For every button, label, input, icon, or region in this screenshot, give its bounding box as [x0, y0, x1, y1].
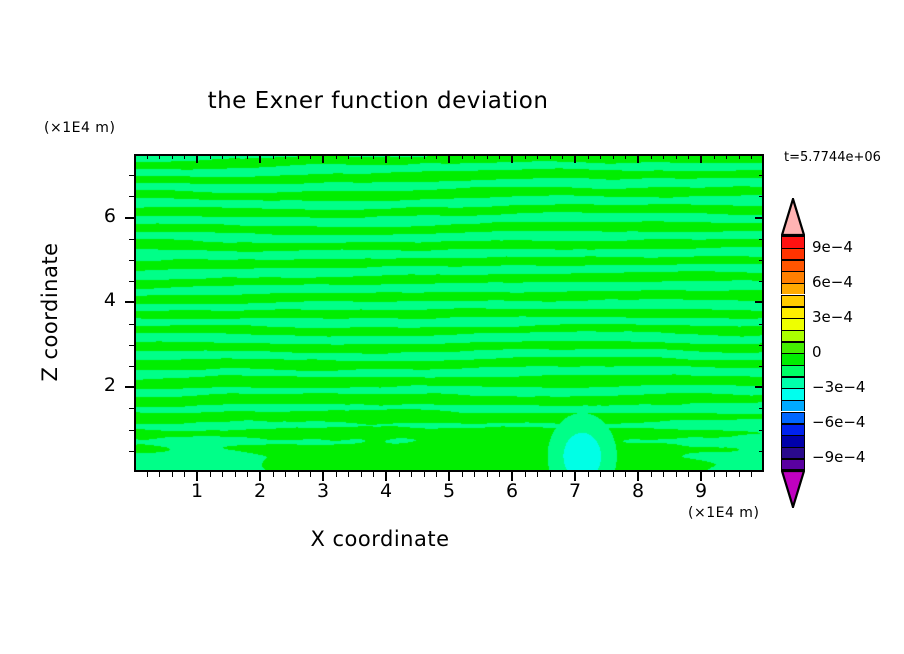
colorbar-band-divider	[781, 388, 805, 389]
colorbar-band	[781, 400, 805, 412]
colorbar-tick-label: −9e−4	[812, 448, 865, 466]
colorbar-tick-label: 0	[812, 343, 822, 361]
x-tick-minor-inner	[688, 154, 689, 159]
y-tick-minor-inner	[759, 324, 764, 325]
colorbar-band-divider	[781, 376, 805, 377]
x-axis-title: X coordinate	[0, 527, 760, 551]
colorbar-band-divider	[781, 447, 805, 448]
colorbar-band	[781, 341, 805, 353]
x-tick-minor	[537, 472, 538, 477]
x-tick-label: 2	[240, 480, 280, 502]
x-tick-minor-inner	[525, 154, 526, 159]
x-tick-minor	[285, 472, 286, 477]
x-tick-minor-inner	[726, 154, 727, 159]
x-tick-minor	[147, 472, 148, 477]
x-tick-minor-inner	[739, 154, 740, 159]
x-tick-minor	[550, 472, 551, 477]
x-tick-minor-inner	[499, 154, 500, 159]
x-tick-major-inner	[574, 154, 576, 163]
x-tick-minor-inner	[310, 154, 311, 159]
y-tick-minor	[129, 175, 134, 176]
x-tick-label: 9	[681, 480, 721, 502]
colorbar-band-divider	[781, 330, 805, 331]
x-tick-minor-inner	[172, 154, 173, 159]
x-tick-minor	[336, 472, 337, 477]
colorbar-band	[781, 295, 805, 307]
x-tick-minor-inner	[588, 154, 589, 159]
x-tick-major-inner	[511, 154, 513, 163]
x-tick-major-inner	[637, 154, 639, 163]
x-tick-minor-inner	[235, 154, 236, 159]
y-tick-minor-inner	[759, 281, 764, 282]
colorbar-band	[781, 353, 805, 365]
x-tick-minor-inner	[613, 154, 614, 159]
colorbar-band	[781, 306, 805, 318]
colorbar-band-divider	[781, 365, 805, 366]
colorbar	[781, 236, 805, 470]
x-tick-minor-inner	[336, 154, 337, 159]
x-tick-major-inner	[322, 154, 324, 163]
x-tick-minor	[235, 472, 236, 477]
y-tick-minor-inner	[759, 175, 764, 176]
x-tick-minor	[625, 472, 626, 477]
colorbar-band-divider	[781, 423, 805, 424]
y-tick-minor-inner	[759, 260, 764, 261]
x-tick-label: 7	[555, 480, 595, 502]
colorbar-band	[781, 376, 805, 388]
x-tick-minor-inner	[462, 154, 463, 159]
colorbar-band	[781, 259, 805, 271]
x-tick-minor	[562, 472, 563, 477]
y-tick-minor-inner	[759, 239, 764, 240]
y-tick-minor	[129, 260, 134, 261]
colorbar-band-divider	[781, 248, 805, 249]
x-tick-minor-inner	[537, 154, 538, 159]
y-tick-minor-inner	[759, 408, 764, 409]
colorbar-band-divider	[781, 412, 805, 413]
plot-stage: the Exner function deviation (×1E4 m) t=…	[0, 0, 904, 654]
colorbar-over-arrow	[781, 198, 805, 236]
x-tick-minor	[474, 472, 475, 477]
colorbar-band	[781, 423, 805, 435]
colorbar-band-divider	[781, 306, 805, 307]
y-tick-minor-inner	[759, 430, 764, 431]
colorbar-band	[781, 435, 805, 447]
colorbar-band-divider	[781, 435, 805, 436]
x-tick-major-inner	[700, 154, 702, 163]
y-tick-major-inner	[755, 386, 764, 388]
colorbar-band	[781, 365, 805, 377]
y-tick-minor-inner	[759, 366, 764, 367]
colorbar-band-divider	[781, 236, 805, 237]
colorbar-band	[781, 330, 805, 342]
x-tick-minor-inner	[184, 154, 185, 159]
y-tick-label: 6	[84, 205, 116, 227]
colorbar-band-divider	[781, 295, 805, 296]
x-tick-minor	[411, 472, 412, 477]
y-tick-major-inner	[755, 301, 764, 303]
x-tick-minor	[310, 472, 311, 477]
x-tick-minor	[273, 472, 274, 477]
colorbar-band	[781, 248, 805, 260]
colorbar-under-arrow	[781, 470, 805, 508]
y-tick-minor-inner	[759, 196, 764, 197]
y-axis-title: Z coordinate	[38, 212, 62, 412]
colorbar-band-divider	[781, 400, 805, 401]
y-tick-minor-inner	[759, 345, 764, 346]
x-tick-minor-inner	[361, 154, 362, 159]
x-tick-minor-inner	[600, 154, 601, 159]
x-tick-minor	[525, 472, 526, 477]
y-tick-minor	[129, 281, 134, 282]
x-tick-minor	[487, 472, 488, 477]
colorbar-band	[781, 271, 805, 283]
y-tick-minor	[129, 324, 134, 325]
x-axis-unit-label: (×1E4 m)	[688, 505, 759, 521]
y-tick-minor	[129, 430, 134, 431]
x-tick-minor	[210, 472, 211, 477]
x-tick-minor	[424, 472, 425, 477]
x-tick-major-inner	[259, 154, 261, 163]
x-tick-minor-inner	[399, 154, 400, 159]
x-tick-minor	[399, 472, 400, 477]
x-tick-minor	[348, 472, 349, 477]
x-tick-minor-inner	[562, 154, 563, 159]
x-tick-major-inner	[385, 154, 387, 163]
x-tick-minor	[588, 472, 589, 477]
colorbar-tick-label: 6e−4	[812, 273, 853, 291]
x-tick-minor-inner	[663, 154, 664, 159]
colorbar-band-divider	[781, 318, 805, 319]
x-tick-minor-inner	[714, 154, 715, 159]
x-tick-minor-inner	[676, 154, 677, 159]
x-tick-minor-inner	[424, 154, 425, 159]
colorbar-band	[781, 388, 805, 400]
x-tick-label: 3	[303, 480, 343, 502]
colorbar-band-divider	[781, 271, 805, 272]
colorbar-band-divider	[781, 259, 805, 260]
x-tick-label: 5	[429, 480, 469, 502]
page-title: the Exner function deviation	[0, 88, 904, 114]
contour-field	[136, 156, 762, 470]
x-tick-minor	[159, 472, 160, 477]
x-tick-label: 4	[366, 480, 406, 502]
x-tick-minor-inner	[298, 154, 299, 159]
x-tick-minor-inner	[436, 154, 437, 159]
colorbar-band	[781, 318, 805, 330]
timestamp-label: t=5.7744e+06	[784, 150, 881, 165]
contour-plot-area	[134, 154, 764, 472]
x-tick-minor-inner	[411, 154, 412, 159]
x-tick-minor	[184, 472, 185, 477]
colorbar-tick-label: 9e−4	[812, 238, 853, 256]
y-tick-major	[125, 301, 134, 303]
y-tick-minor-inner	[759, 451, 764, 452]
colorbar-band-divider	[781, 283, 805, 284]
x-tick-minor-inner	[285, 154, 286, 159]
x-tick-minor	[651, 472, 652, 477]
x-tick-major-inner	[196, 154, 198, 163]
y-tick-minor	[129, 366, 134, 367]
x-tick-minor-inner	[159, 154, 160, 159]
chart-title-text: the Exner function deviation	[208, 88, 549, 114]
x-tick-minor-inner	[222, 154, 223, 159]
x-tick-minor	[499, 472, 500, 477]
x-tick-minor-inner	[373, 154, 374, 159]
x-tick-minor-inner	[273, 154, 274, 159]
x-tick-minor-inner	[625, 154, 626, 159]
x-tick-minor-inner	[751, 154, 752, 159]
colorbar-band	[781, 447, 805, 459]
y-tick-minor	[129, 345, 134, 346]
x-tick-minor-inner	[550, 154, 551, 159]
colorbar-band-divider	[781, 458, 805, 459]
x-tick-minor-inner	[474, 154, 475, 159]
x-tick-minor	[726, 472, 727, 477]
x-tick-minor	[373, 472, 374, 477]
x-tick-label: 6	[492, 480, 532, 502]
y-tick-major	[125, 386, 134, 388]
y-tick-minor	[129, 239, 134, 240]
x-tick-minor	[436, 472, 437, 477]
x-tick-minor-inner	[247, 154, 248, 159]
colorbar-band-divider	[781, 353, 805, 354]
x-tick-minor	[688, 472, 689, 477]
colorbar-tick-label: −3e−4	[812, 378, 865, 396]
colorbar-band	[781, 283, 805, 295]
x-tick-minor	[247, 472, 248, 477]
x-tick-minor-inner	[348, 154, 349, 159]
y-axis-unit-label: (×1E4 m)	[44, 120, 115, 136]
x-tick-major-inner	[448, 154, 450, 163]
x-tick-minor	[739, 472, 740, 477]
x-tick-minor-inner	[651, 154, 652, 159]
x-tick-minor	[361, 472, 362, 477]
x-tick-minor	[462, 472, 463, 477]
y-tick-major	[125, 217, 134, 219]
x-tick-minor-inner	[147, 154, 148, 159]
x-tick-minor	[663, 472, 664, 477]
x-tick-minor-inner	[487, 154, 488, 159]
colorbar-band-divider	[781, 341, 805, 342]
y-tick-minor	[129, 196, 134, 197]
x-tick-minor-inner	[210, 154, 211, 159]
x-tick-minor	[613, 472, 614, 477]
x-tick-minor	[676, 472, 677, 477]
x-tick-minor	[600, 472, 601, 477]
y-tick-label: 4	[84, 289, 116, 311]
x-tick-label: 8	[618, 480, 658, 502]
x-tick-minor	[222, 472, 223, 477]
x-tick-label: 1	[177, 480, 217, 502]
x-tick-minor	[714, 472, 715, 477]
colorbar-band	[781, 236, 805, 248]
x-tick-minor	[298, 472, 299, 477]
y-tick-major-inner	[755, 217, 764, 219]
y-tick-minor	[129, 451, 134, 452]
colorbar-band	[781, 412, 805, 424]
x-tick-minor	[172, 472, 173, 477]
colorbar-tick-label: 3e−4	[812, 308, 853, 326]
colorbar-tick-label: −6e−4	[812, 413, 865, 431]
y-tick-label: 2	[84, 374, 116, 396]
x-tick-minor	[751, 472, 752, 477]
y-tick-minor	[129, 408, 134, 409]
